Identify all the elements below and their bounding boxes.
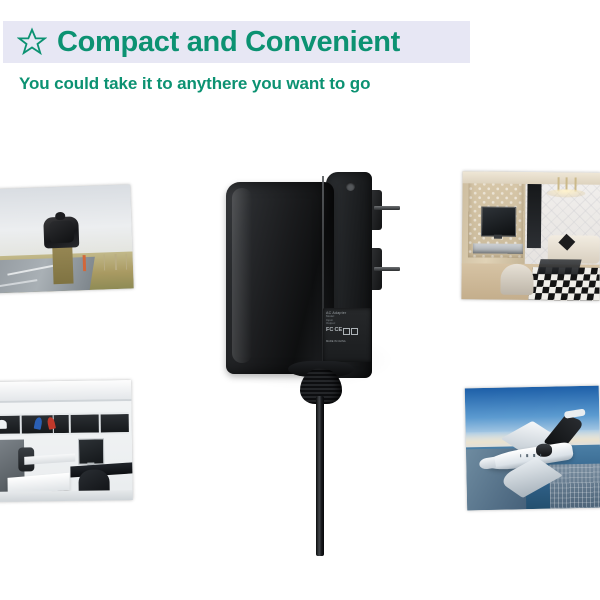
shelf-object (0, 420, 7, 429)
monitor (78, 438, 104, 464)
certification-marks: FC CE (326, 328, 369, 335)
page-subtitle: You could take it to anythere you want t… (19, 75, 370, 92)
prong-pivot-hole (346, 182, 355, 191)
regulatory-box-mark (351, 328, 358, 335)
ac-adapter-product-image: AC Adapter Model: Input: Output: FC CE M… (218, 168, 388, 568)
ceiling (0, 380, 131, 403)
coffee-table (537, 259, 582, 275)
header-banner: Compact and Convenient (3, 21, 470, 63)
floor (0, 490, 133, 502)
dc-output-cable (316, 396, 324, 556)
cabin-window (533, 454, 535, 457)
ce-mark: CE (334, 328, 342, 334)
prong-pin-upper (374, 206, 400, 210)
doorway (527, 183, 541, 247)
armchair (500, 264, 533, 295)
prong-pin-lower (374, 267, 400, 271)
tv-stand (494, 234, 502, 238)
product-banner-canvas: Compact and Convenient You could take it… (0, 0, 600, 600)
fcc-mark: FC (326, 328, 333, 334)
wall-shelf-unit (0, 412, 129, 436)
page-title: Compact and Convenient (57, 28, 400, 57)
backpack (50, 221, 74, 244)
label-output: Output: (326, 322, 369, 325)
spec-label: AC Adapter Model: Input: Output: FC CE M… (323, 308, 371, 362)
housing-highlight (232, 188, 252, 363)
private-jet-photo (465, 386, 600, 511)
living-room-photo (461, 171, 600, 300)
office-workspace-photo (0, 380, 133, 502)
chandelier (545, 177, 587, 200)
asphalt-road (0, 256, 95, 293)
jet-engine (536, 444, 552, 457)
cabin-window (520, 454, 522, 457)
star-outline-icon (3, 27, 61, 57)
regulatory-box-mark (343, 328, 350, 335)
cabin-window (526, 454, 528, 457)
city-grid (549, 464, 600, 509)
tv-console (473, 243, 523, 254)
television (481, 206, 516, 237)
cabin-window (540, 454, 542, 457)
label-origin: MADE IN CHINA (326, 340, 369, 343)
hiker-on-road-photo (0, 184, 134, 293)
